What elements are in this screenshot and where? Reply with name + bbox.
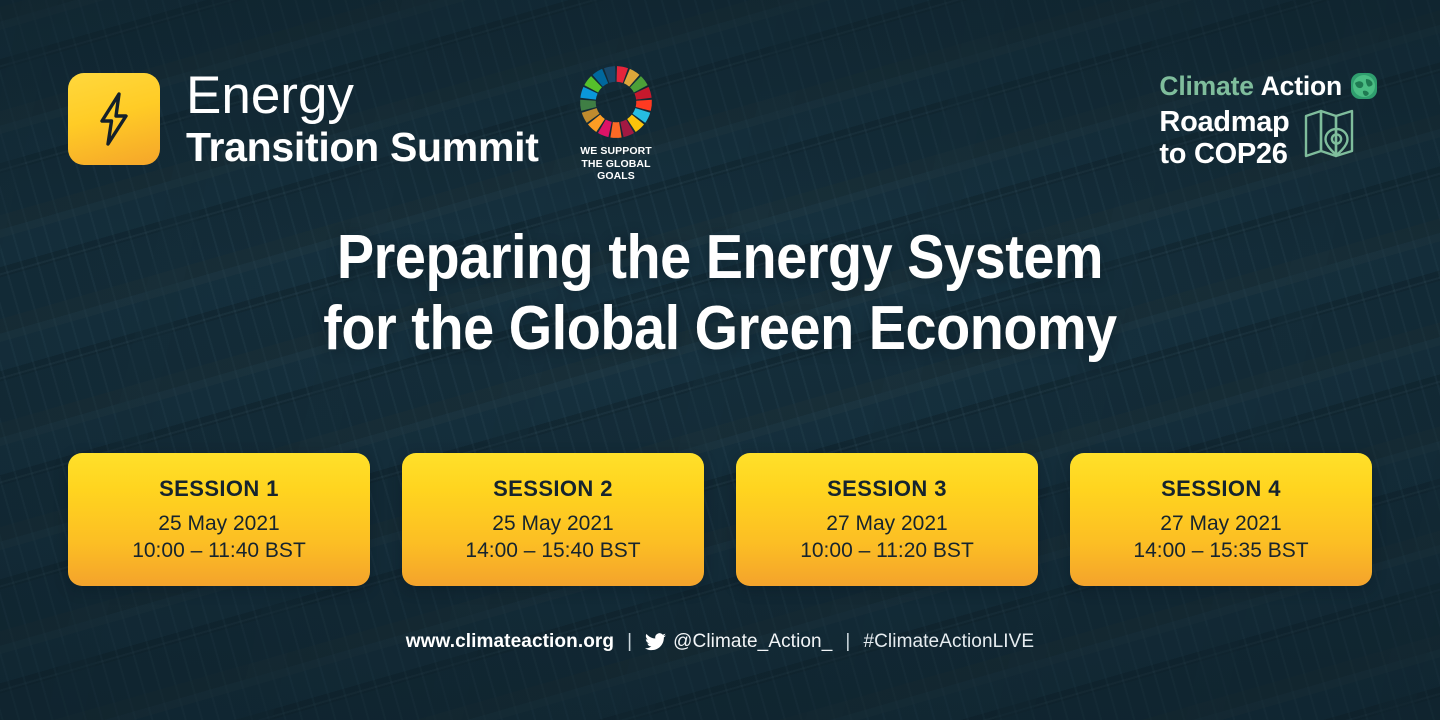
sdg-caption-line1: WE SUPPORT xyxy=(566,145,666,158)
session-time: 10:00 – 11:20 BST xyxy=(800,537,974,564)
folded-map-pin-icon xyxy=(1303,107,1359,159)
roadmap-text: Roadmap to COP26 xyxy=(1159,106,1289,170)
climate-action-roadmap-logo: Climate Action Roadmap to COP26 xyxy=(1159,72,1378,170)
session-date: 27 May 2021 xyxy=(826,510,947,537)
footer-separator: | xyxy=(627,631,632,653)
session-card[interactable]: SESSION 2 25 May 2021 14:00 – 15:40 BST xyxy=(402,453,704,586)
session-title: SESSION 1 xyxy=(159,476,279,502)
twitter-handle[interactable]: @Climate_Action_ xyxy=(673,631,832,653)
footer-separator: | xyxy=(845,631,850,653)
roadmap-line1: Roadmap xyxy=(1159,106,1289,138)
session-time: 14:00 – 15:35 BST xyxy=(1133,537,1308,564)
session-card-list: SESSION 1 25 May 2021 10:00 – 11:40 BST … xyxy=(68,453,1372,586)
brand-word-climate: Climate xyxy=(1159,73,1253,100)
summit-wordmark: Energy Transition Summit xyxy=(186,69,539,168)
roadmap-line2: to COP26 xyxy=(1159,138,1289,170)
lightning-bolt-icon xyxy=(68,73,160,165)
event-banner: Energy Transition Summit WE SUPPORT THE … xyxy=(0,0,1440,720)
summit-name-line1: Energy xyxy=(186,69,539,122)
roadmap-to-cop26: Roadmap to COP26 xyxy=(1159,106,1378,170)
event-hashtag[interactable]: #ClimateActionLIVE xyxy=(863,631,1034,653)
session-date: 25 May 2021 xyxy=(158,510,279,537)
sdg-global-goals-logo: WE SUPPORT THE GLOBAL GOALS xyxy=(566,63,666,183)
twitter-bird-icon[interactable] xyxy=(645,633,666,651)
session-title: SESSION 3 xyxy=(827,476,947,502)
summit-name-line2: Transition Summit xyxy=(186,127,539,168)
session-date: 27 May 2021 xyxy=(1160,510,1281,537)
headline-line1: Preparing the Energy System xyxy=(72,222,1368,293)
page-title: Preparing the Energy System for the Glob… xyxy=(72,222,1368,364)
brand-word-action: Action xyxy=(1261,73,1342,100)
green-globe-icon xyxy=(1350,72,1378,100)
session-title: SESSION 2 xyxy=(493,476,613,502)
banner-header: Energy Transition Summit WE SUPPORT THE … xyxy=(0,0,1440,200)
climate-action-brand: Climate Action xyxy=(1159,72,1378,100)
headline-line2: for the Global Green Economy xyxy=(72,293,1368,364)
session-title: SESSION 4 xyxy=(1161,476,1281,502)
session-card[interactable]: SESSION 4 27 May 2021 14:00 – 15:35 BST xyxy=(1070,453,1372,586)
session-time: 14:00 – 15:40 BST xyxy=(465,537,640,564)
session-card[interactable]: SESSION 1 25 May 2021 10:00 – 11:40 BST xyxy=(68,453,370,586)
sdg-color-wheel-icon xyxy=(577,63,655,141)
banner-footer: www.climateaction.org | @Climate_Action_… xyxy=(0,631,1440,653)
website-link[interactable]: www.climateaction.org xyxy=(406,631,614,653)
sdg-caption: WE SUPPORT THE GLOBAL GOALS xyxy=(566,145,666,183)
energy-transition-summit-logo: Energy Transition Summit xyxy=(68,69,539,168)
session-card[interactable]: SESSION 3 27 May 2021 10:00 – 11:20 BST xyxy=(736,453,1038,586)
session-time: 10:00 – 11:40 BST xyxy=(132,537,306,564)
session-date: 25 May 2021 xyxy=(492,510,613,537)
sdg-caption-line2: THE GLOBAL GOALS xyxy=(566,158,666,183)
